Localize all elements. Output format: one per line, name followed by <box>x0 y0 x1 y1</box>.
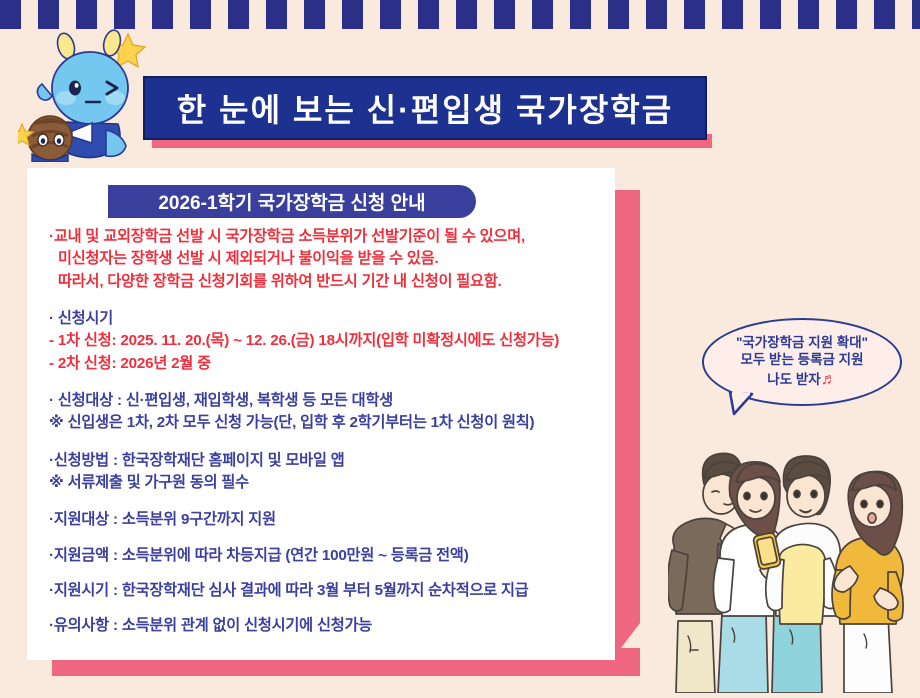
info-body: ·교내 및 교외장학금 선발 시 국가장학금 소득분위가 선발기준이 될 수 있… <box>49 226 605 647</box>
notice-line: 미신청자는 장학생 선발 시 제외되거나 불이익을 받을 수 있음. <box>49 248 605 270</box>
bubble-line-2: 모두 받는 등록금 지원 <box>740 351 863 369</box>
application-period-block: · 신청시기 - 1차 신청: 2025. 11. 20.(목) ~ 12. 2… <box>49 308 605 375</box>
title-banner: 한 눈에 보는 신·편입생 국가장학금 <box>143 76 707 140</box>
method-line: ·신청방법 : 한국장학재단 홈페이지 및 모바일 앱 <box>49 450 605 472</box>
speech-bubble-tail <box>728 392 754 416</box>
subtitle-banner: 2026-1학기 국가장학금 신청 안내 <box>108 185 476 218</box>
support-caution: ·유의사항 : 소득분위 관계 없이 신청시기에 신청가능 <box>49 615 605 637</box>
period-line-first: - 1차 신청: 2025. 11. 20.(목) ~ 12. 26.(금) 1… <box>49 330 605 352</box>
subtitle-text: 2026-1학기 국가장학금 신청 안내 <box>158 188 425 215</box>
support-target: ·지원대상 : 소득분위 9구간까지 지원 <box>49 509 605 531</box>
period-line-second: - 2차 신청: 2026년 2월 중 <box>49 353 605 375</box>
application-method-block: ·신청방법 : 한국장학재단 홈페이지 및 모바일 앱 ※ 서류제출 및 가구원… <box>49 450 605 495</box>
method-note: ※ 서류제출 및 가구원 동의 필수 <box>49 472 605 494</box>
notice-block: ·교내 및 교외장학금 선발 시 국가장학금 소득분위가 선발기준이 될 수 있… <box>49 226 605 293</box>
bubble-line-3: 나도 받자♬ <box>767 369 836 390</box>
music-note-icon: ♬ <box>821 371 837 388</box>
notice-line: ·교내 및 교외장학금 선발 시 국가장학금 소득분위가 선발기준이 될 수 있… <box>49 226 605 248</box>
period-heading: · 신청시기 <box>49 308 605 330</box>
support-amount: ·지원금액 : 소득분위에 따라 차등지급 (연간 100만원 ~ 등록금 전액… <box>49 545 605 567</box>
students-illustration <box>668 438 920 693</box>
eligibility-line: · 신청대상 : 신·편입생, 재입학생, 복학생 등 모든 대학생 <box>49 390 605 412</box>
support-block: ·지원대상 : 소득분위 9구간까지 지원 ·지원금액 : 소득분위에 따라 차… <box>49 509 605 637</box>
dragon-mascot-illustration <box>18 26 150 162</box>
eligibility-note: ※ 신입생은 1차, 2차 모두 신청 가능(단, 입학 후 2학기부터는 1차… <box>49 412 605 434</box>
bubble-line-3-text: 나도 받자 <box>767 372 820 387</box>
notice-line: 따라서, 다양한 장학금 신청기회를 위하여 반드시 기간 내 신청이 필요함. <box>49 271 605 293</box>
support-schedule: ·지원시기 : 한국장학재단 심사 결과에 따라 3월 부터 5월까지 순차적으… <box>49 580 605 602</box>
info-card: 2026-1학기 국가장학금 신청 안내 ·교내 및 교외장학금 선발 시 국가… <box>27 168 615 660</box>
eligibility-block: · 신청대상 : 신·편입생, 재입학생, 복학생 등 모든 대학생 ※ 신입생… <box>49 390 605 435</box>
page-title: 한 눈에 보는 신·편입생 국가장학금 <box>177 85 673 131</box>
bunting-stripes <box>0 0 920 29</box>
bubble-line-1: "국가장학금 지원 확대" <box>736 334 868 352</box>
